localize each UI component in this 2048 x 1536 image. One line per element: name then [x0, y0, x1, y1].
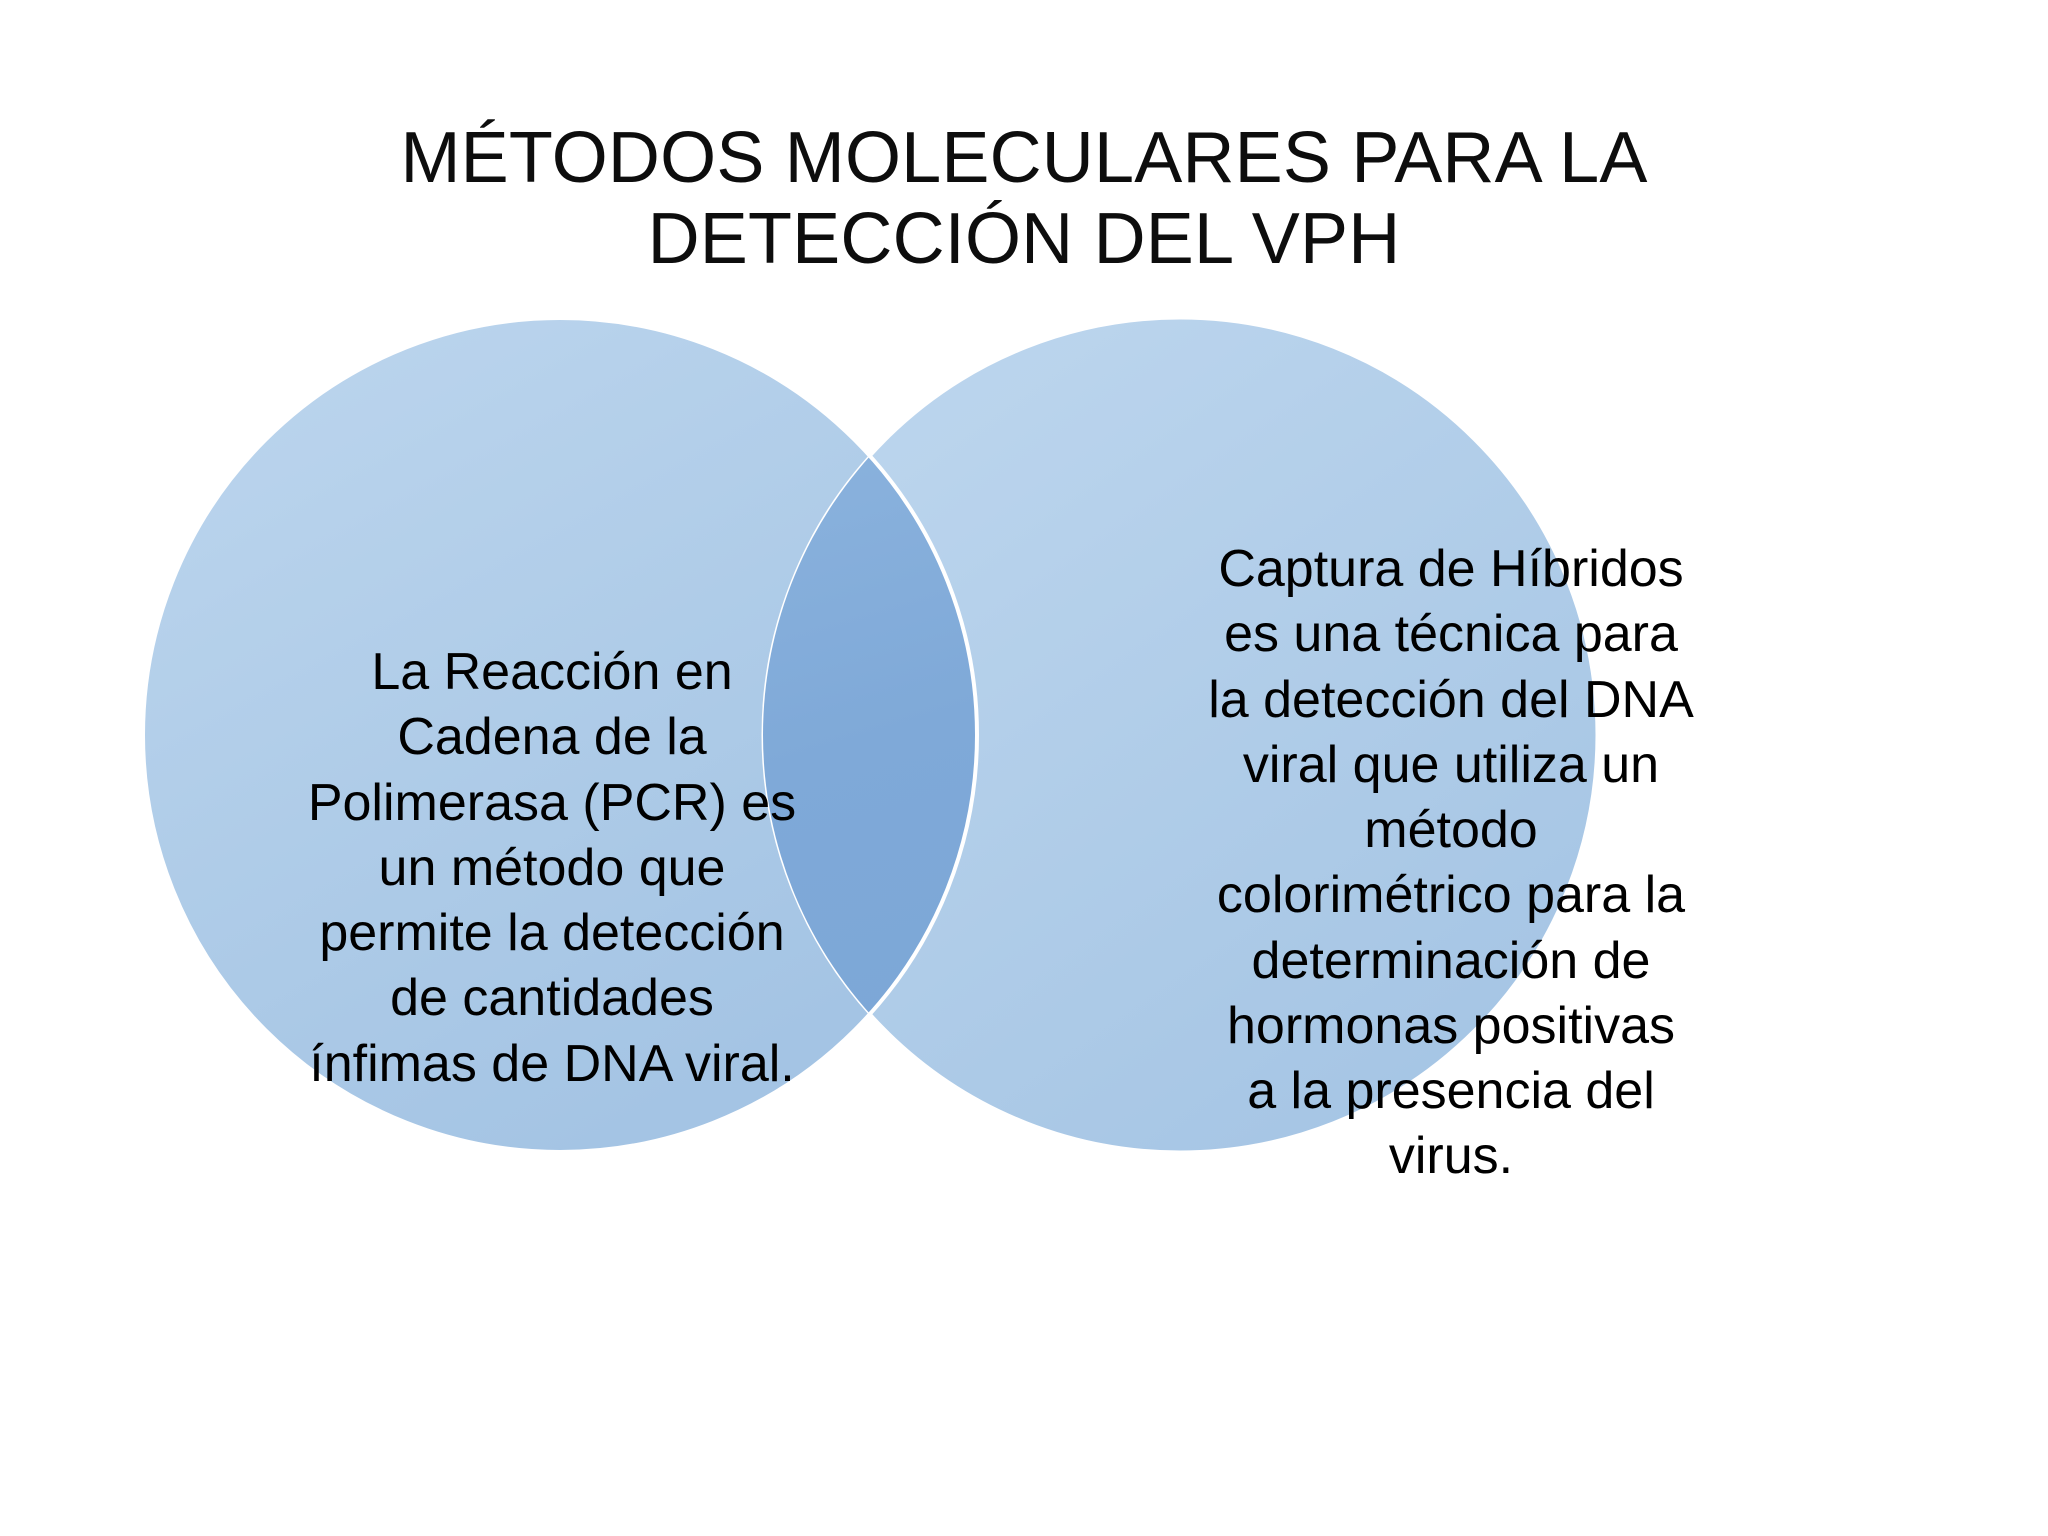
slide-canvas: MÉTODOS MOLECULARES PARA LA DETECCIÓN DE…	[0, 0, 2048, 1536]
venn-right-circle-text: Captura de Híbridos es una técnica para …	[1162, 537, 1740, 1190]
venn-diagram: La Reacción en Cadena de la Polimerasa (…	[0, 0, 2048, 1536]
venn-left-circle-text: La Reacción en Cadena de la Polimerasa (…	[252, 640, 852, 1097]
